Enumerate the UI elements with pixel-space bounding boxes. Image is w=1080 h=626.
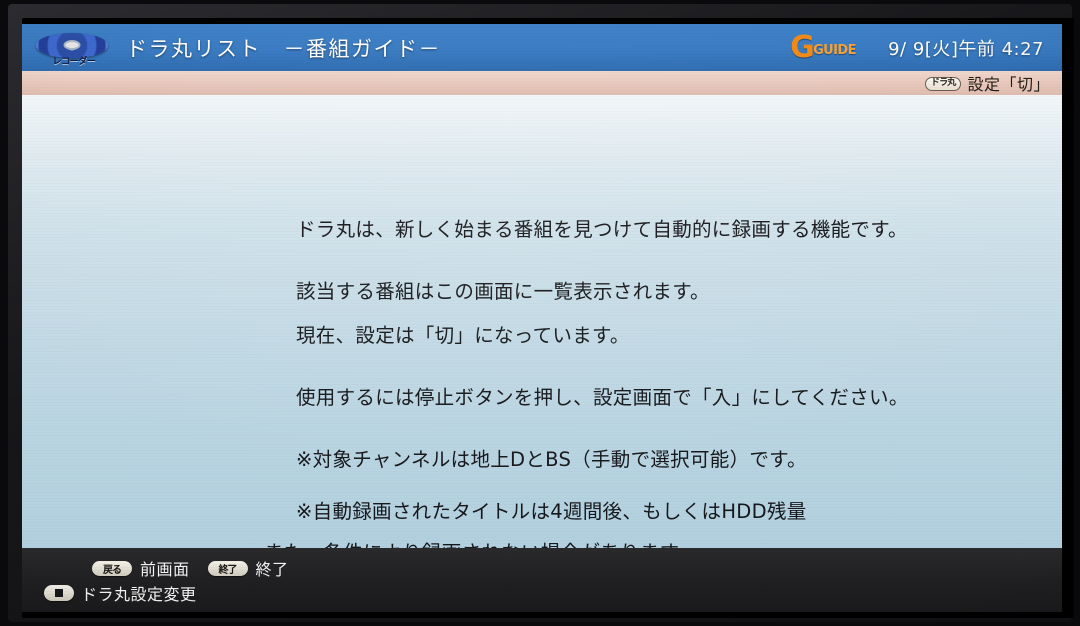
footer-row-secondary: ドラ丸設定変更 — [44, 581, 207, 605]
exit-action-label: 終了 — [256, 556, 289, 580]
paragraph2-line2: 使用するには停止ボタンを押し、設定画面で「入」にしてください。 — [296, 386, 909, 409]
gguide-logo-icon: G GUIDE — [790, 34, 864, 62]
tv-photo: レコーダー ドラ丸リスト －番組ガイド－ G GUIDE 9/ 9[火]午前 4… — [0, 0, 1080, 626]
page-title: ドラ丸リスト －番組ガイド－ — [126, 33, 441, 63]
doramaru-badge: ドラ丸 — [925, 77, 962, 91]
footer-row-primary: 戻る 前画面 終了 終了 — [92, 556, 299, 580]
content-area: ドラ丸は、新しく始まる番組を見つけて自動的に録画する機能です。 該当する番組はこ… — [22, 95, 1062, 548]
exit-key-badge[interactable]: 終了 — [208, 561, 248, 576]
back-action-label: 前画面 — [140, 556, 190, 580]
setting-status-text: 設定「切」 — [967, 71, 1050, 95]
stop-square-icon[interactable] — [44, 585, 74, 601]
recorder-logo-label: レコーダー — [42, 54, 106, 67]
title-bar: レコーダー ドラ丸リスト －番組ガイド－ G GUIDE 9/ 9[火]午前 4… — [22, 24, 1062, 71]
footer-guide-bar: 戻る 前画面 終了 終了 ドラ丸設定変更 — [22, 548, 1062, 612]
disc-hub — [66, 42, 79, 48]
recorder-disc-icon: レコーダー — [36, 31, 112, 65]
tv-screen: レコーダー ドラ丸リスト －番組ガイド－ G GUIDE 9/ 9[火]午前 4… — [22, 24, 1062, 612]
paragraph2-line1: 現在、設定は「切」になっています。 — [296, 324, 630, 347]
gguide-wordmark: GUIDE — [813, 43, 856, 58]
back-key-badge[interactable]: 戻る — [92, 561, 132, 576]
status-bar: ドラ丸 設定「切」 — [22, 71, 1062, 95]
doramaru-settings-change-label: ドラ丸設定変更 — [81, 581, 197, 605]
clock-datetime: 9/ 9[火]午前 4:27 — [888, 35, 1044, 61]
paragraph1-line1: ドラ丸は、新しく始まる番組を見つけて自動的に録画する機能です。 — [296, 218, 908, 241]
stop-square-glyph — [55, 589, 63, 597]
gguide-g-mark: G — [790, 34, 815, 62]
note2-line1: ※自動録画されたタイトルは4週間後、もしくはHDD残量 — [296, 500, 807, 523]
